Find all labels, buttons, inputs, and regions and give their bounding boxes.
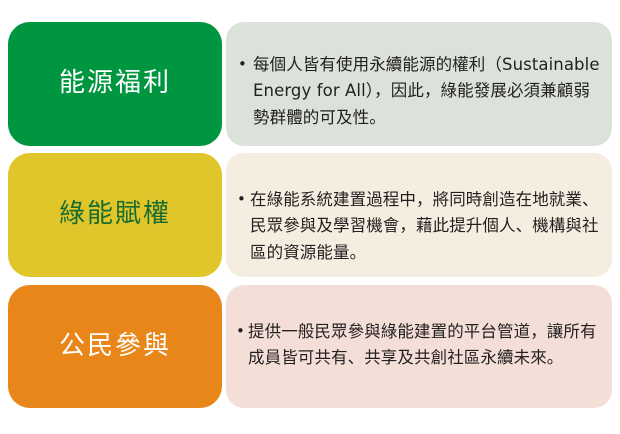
- row-citizen-participation: 公民參與 提供一般民眾參與綠能建置的平台管道，讓所有成員皆可共有、共享及共創社區…: [0, 285, 620, 408]
- panel-inner-citizen-participation: 提供一般民眾參與綠能建置的平台管道，讓所有成員皆可共有、共享及共創社區永續未來。: [226, 285, 612, 408]
- label-box-citizen-participation: 公民參與: [8, 285, 222, 408]
- panel-inner-green-energy-empowerment: 在綠能系統建置過程中，將同時創造在地就業、民眾參與及學習機會，藉此提升個人、機構…: [226, 153, 612, 277]
- infographic-container: 能源福利 每個人皆有使用永續能源的權利（Sustainable Energy f…: [0, 0, 620, 434]
- label-box-green-energy-empowerment: 綠能賦權: [8, 153, 222, 277]
- panel-inner-energy-welfare: 每個人皆有使用永續能源的權利（Sustainable Energy for Al…: [226, 22, 612, 146]
- label-text-green-energy-empowerment: 綠能賦權: [59, 199, 171, 230]
- label-box-energy-welfare: 能源福利: [8, 22, 222, 146]
- panel-green-energy-empowerment: 在綠能系統建置過程中，將同時創造在地就業、民眾參與及學習機會，藉此提升個人、機構…: [226, 153, 612, 277]
- row-energy-welfare: 能源福利 每個人皆有使用永續能源的權利（Sustainable Energy f…: [0, 22, 620, 146]
- label-text-citizen-participation: 公民參與: [59, 331, 171, 362]
- label-text-energy-welfare: 能源福利: [59, 68, 171, 99]
- bullet-text-green-energy-empowerment: 在綠能系統建置過程中，將同時創造在地就業、民眾參與及學習機會，藉此提升個人、機構…: [237, 187, 600, 267]
- bullet-text-energy-welfare: 每個人皆有使用永續能源的權利（Sustainable Energy for Al…: [238, 52, 600, 132]
- bullet-text-citizen-participation: 提供一般民眾參與綠能建置的平台管道，讓所有成員皆可共有、共享及共創社區永續未來。: [236, 319, 600, 372]
- panel-citizen-participation: 提供一般民眾參與綠能建置的平台管道，讓所有成員皆可共有、共享及共創社區永續未來。: [226, 285, 612, 408]
- panel-energy-welfare: 每個人皆有使用永續能源的權利（Sustainable Energy for Al…: [226, 22, 612, 146]
- row-green-energy-empowerment: 綠能賦權 在綠能系統建置過程中，將同時創造在地就業、民眾參與及學習機會，藉此提升…: [0, 153, 620, 277]
